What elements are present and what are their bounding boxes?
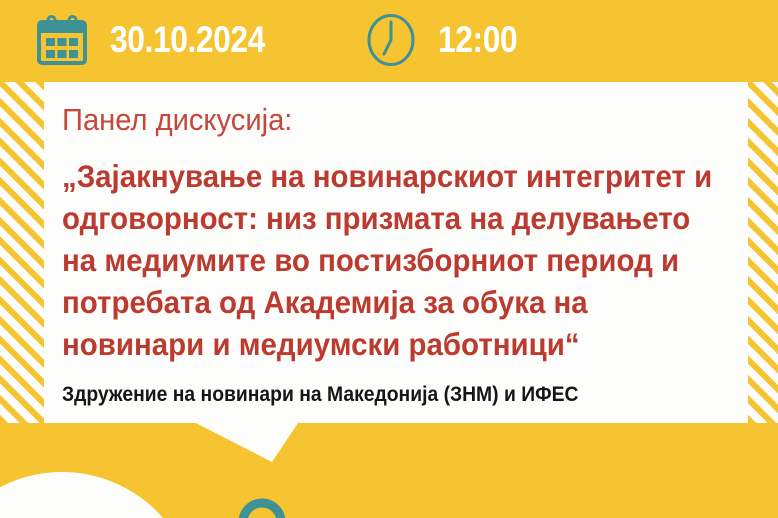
organizers-line: Здружение на новинари на Македонија (ЗНМ… <box>62 365 686 407</box>
header-band: 30.10.2024 12:00 <box>0 0 778 80</box>
clock-icon <box>366 13 416 67</box>
headline-line-2: одговорност: низ призмата на делувањето <box>62 197 696 239</box>
panel-kicker: Панел дискусија: <box>62 82 699 137</box>
event-time-value: 12:00 <box>438 19 517 61</box>
headline-line-3: на медиумите во постизборниот период и <box>62 239 696 281</box>
event-time-item: 12:00 <box>366 13 530 67</box>
headline-line-5: новинари и медиумски работници“ <box>62 323 696 365</box>
content-card: Панел дискусија: „Зајакнување на новинар… <box>0 82 778 423</box>
headline-line-1: „Зајакнување на новинарскиот интегритет … <box>62 155 696 197</box>
map-pin-icon <box>232 492 292 518</box>
panel-headline: „Зајакнување на новинарскиот интегритет … <box>62 137 696 365</box>
stripe-pattern-left <box>0 82 44 423</box>
calendar-icon <box>36 15 88 65</box>
event-poster: 30.10.2024 12:00 Панел дискусија: „Зајак… <box>0 0 778 518</box>
headline-line-4: потребата од Академија за обука на <box>62 281 696 323</box>
event-date-value: 30.10.2024 <box>110 19 265 61</box>
stripe-pattern-right <box>748 82 778 423</box>
decorative-circle <box>0 472 196 518</box>
header-meta-row: 30.10.2024 12:00 <box>0 0 778 80</box>
card-body: Панел дискусија: „Зајакнување на новинар… <box>62 82 740 423</box>
speech-bubble-tail <box>190 420 350 480</box>
event-date-item: 30.10.2024 <box>36 15 290 65</box>
